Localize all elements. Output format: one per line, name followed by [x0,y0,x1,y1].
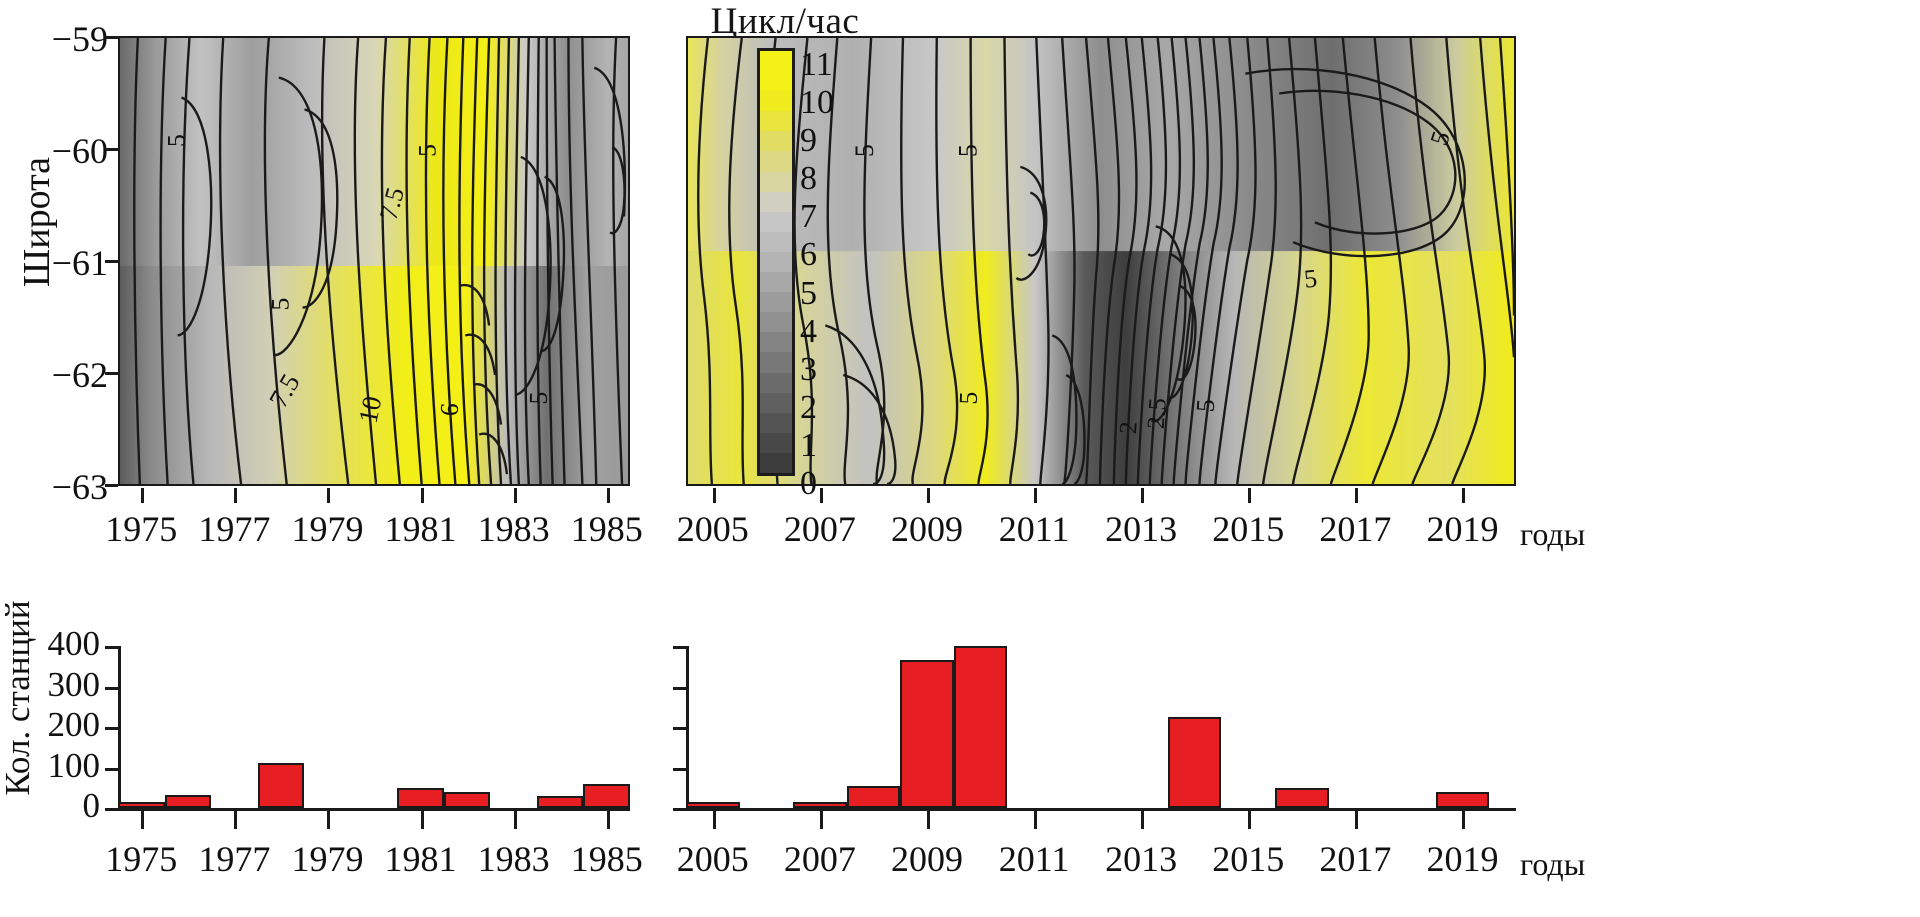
bar-y-tick-mark [673,687,687,690]
x-tick-mark [1141,488,1144,503]
colorbar-swatch [760,151,792,171]
bar-y-tick-label: 400 [10,624,100,664]
y-tick-mark [105,484,118,487]
colorbar-swatch [760,91,792,111]
colorbar-tick-label: 3 [800,351,846,389]
bar-x-tick-mark [927,811,930,829]
colorbar-swatch [760,212,792,232]
y-tick-mark [105,260,118,263]
contour-label: 5 [1190,398,1220,413]
colorbar [757,48,795,476]
contour-svg-left: 5 5 5 7.5 7.5 10 6 5 [120,38,628,484]
contour-label: 5 [850,144,879,157]
x-tick-mark [1034,488,1037,503]
colorbar-swatch [760,332,792,352]
bar-y-tick-mark [673,646,687,649]
x-tick-label: 2019 [1397,508,1527,550]
y-tick-label: −63 [8,466,108,508]
bar-y-tick-label: 200 [10,705,100,745]
bar-y-tick-mark [673,768,687,771]
bar-x-tick-mark [1034,811,1037,829]
bar [397,788,444,808]
contour-label: 5 [413,144,442,157]
bar-x-tick-mark [421,811,424,829]
x-tick-mark [1462,488,1465,503]
colorbar-tick-label: 6 [800,236,846,274]
bar-x-tick-mark [514,811,517,829]
x-tick-mark [234,488,237,503]
x-tick-mark [607,488,610,503]
colorbar-swatch [760,352,792,372]
contour-label: 2 [1115,421,1143,435]
x-tick-mark [327,488,330,503]
contour-label: 5 [161,134,190,147]
colorbar-tick-label: 7 [800,198,846,236]
y-tick-label: −60 [8,130,108,172]
bar [686,802,740,808]
bar-x-tick-mark [327,811,330,829]
colorbar-tick-label: 2 [800,389,846,427]
bar-axis-horizontal [686,808,1516,811]
colorbar-swatch [760,192,792,212]
bar-y-tick-label: 300 [10,665,100,705]
bar [793,802,847,808]
bar-chart-right [686,646,1516,811]
colorbar-swatch [760,172,792,192]
contour-label: 6 [434,402,464,417]
bar-x-tick-mark [141,811,144,829]
contour-label: 2.5 [1143,397,1172,430]
bar [118,802,165,808]
colorbar-swatch [760,111,792,131]
contour-label: 5 [954,391,983,405]
x-tick-mark [927,488,930,503]
bar [583,784,630,808]
bar-x-tick-mark [713,811,716,829]
bar [1436,792,1490,808]
colorbar-swatch [760,272,792,292]
x-axis-unit-label-bottom: годы [1520,846,1585,883]
x-tick-mark [1248,488,1251,503]
colorbar-swatch [760,393,792,413]
bar-x-tick-label: 2019 [1397,838,1527,880]
x-tick-mark [820,488,823,503]
bar-y-tick-mark [673,808,687,811]
colorbar-tick-label: 1 [800,427,846,465]
bar [1168,717,1222,808]
contour-label: 5 [266,298,295,311]
bar-y-tick-mark [105,646,119,649]
figure-root: Цикл/час Широта Кол. станций [0,0,1920,917]
colorbar-tick-label: 4 [800,313,846,351]
y-tick-label: −62 [8,354,108,396]
bar-x-tick-mark [1248,811,1251,829]
colorbar-tick-label: 10 [800,84,846,122]
colorbar-swatch [760,292,792,312]
x-tick-mark [713,488,716,503]
colorbar-tick-label: 8 [800,160,846,198]
x-tick-mark [1355,488,1358,503]
x-axis-unit-label-top: годы [1520,516,1585,553]
contour-label: 5 [524,391,553,405]
bar-chart-left: 0100200300400 [118,646,630,811]
bar [258,763,305,808]
colorbar-tick-label: 0 [800,465,846,503]
colorbar-swatch [760,453,792,473]
bar [900,660,954,808]
bar [954,646,1008,808]
bar-y-tick-mark [105,727,119,730]
y-tick-mark [105,36,118,39]
x-tick-mark [514,488,517,503]
bar-y-tick-label: 100 [10,746,100,786]
x-tick-mark [141,488,144,503]
bar-x-tick-mark [1141,811,1144,829]
bar-y-tick-mark [105,808,119,811]
contour-panel-left: 5 5 5 7.5 7.5 10 6 5 [118,36,630,486]
colorbar-swatch [760,433,792,453]
bar-x-tick-mark [607,811,610,829]
bar [1275,788,1329,808]
bar [537,796,584,808]
bar-x-tick-mark [1462,811,1465,829]
colorbar-swatch [760,51,792,71]
x-tick-mark [421,488,424,503]
colorbar-swatch [760,413,792,433]
bar-y-tick-mark [105,768,119,771]
colorbar-tick-labels: 11109876543210 [800,40,848,485]
colorbar-swatch [760,71,792,91]
bar-y-tick-mark [673,727,687,730]
bar [847,786,901,808]
contour-label: 5 [954,144,983,157]
colorbar-swatch [760,252,792,272]
colorbar-swatch [760,373,792,393]
bar [165,795,212,808]
y-tick-label: −59 [8,18,108,60]
bar-y-tick-label: 0 [10,786,100,826]
colorbar-tick-label: 9 [800,122,846,160]
y-tick-mark [105,372,118,375]
colorbar-swatch [760,232,792,252]
colorbar-swatch [760,131,792,151]
bar-y-tick-mark [105,687,119,690]
bar-x-tick-mark [1355,811,1358,829]
y-tick-mark [105,148,118,151]
colorbar-tick-label: 5 [800,275,846,313]
y-tick-label: −61 [8,242,108,284]
bar-x-tick-mark [820,811,823,829]
bar [444,792,491,808]
bar-x-tick-mark [234,811,237,829]
bar-axis-horizontal [118,808,630,811]
colorbar-swatch [760,312,792,332]
colorbar-tick-label: 11 [800,46,846,84]
